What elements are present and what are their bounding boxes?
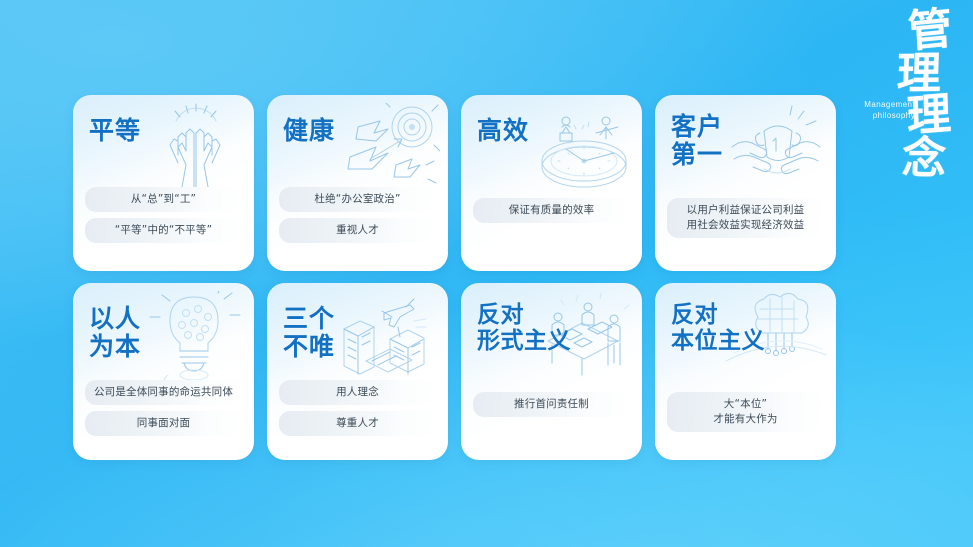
card-anti-formalism[interactable]: 反对 形式主义 推行	[461, 283, 642, 460]
card-people-oriented[interactable]: 以人 为本	[73, 283, 254, 460]
card-pill[interactable]: 保证有质量的效率	[473, 198, 630, 223]
card-pill-list: 用人理念 尊重人才	[279, 380, 436, 436]
card-heading: 以人 为本	[89, 305, 141, 361]
card-pill[interactable]: 从“总”到“工”	[85, 187, 242, 212]
card-efficiency[interactable]: 高效	[461, 95, 642, 271]
philosophy-card-grid: 平等 从“总”到“工” “平等”中的“不平等” 健康	[73, 95, 836, 460]
brand-subtitle-line-2: philosophy	[843, 111, 915, 122]
card-heading: 三个 不唯	[283, 305, 335, 361]
card-pill[interactable]: 公司是全体同事的命运共同体	[85, 380, 242, 405]
card-pill-list: 保证有质量的效率	[473, 198, 630, 223]
card-heading: 平等	[89, 117, 141, 145]
brand-subtitle: Management philosophy	[843, 100, 915, 121]
brand-title-block: 管 理 理 念 Management philosophy	[847, 8, 963, 198]
card-health[interactable]: 健康 杜绝“办公室政治” 重视人才	[267, 95, 448, 271]
card-pill[interactable]: 尊重人才	[279, 411, 436, 436]
card-three-nots[interactable]: 三个 不唯 用人理念 尊重人才	[267, 283, 448, 460]
card-pill-list: 以用户利益保证公司利益 用社会效益实现经济效益	[667, 198, 824, 238]
card-heading: 客户 第一	[671, 113, 723, 169]
card-heading: 健康	[283, 117, 335, 145]
card-equality[interactable]: 平等 从“总”到“工” “平等”中的“不平等”	[73, 95, 254, 271]
card-pill-list: 杜绝“办公室政治” 重视人才	[279, 187, 436, 243]
card-pill-list: 从“总”到“工” “平等”中的“不平等”	[85, 187, 242, 243]
card-heading: 反对 本位主义	[671, 303, 765, 355]
brand-subtitle-line-1: Management	[843, 100, 915, 111]
card-pill[interactable]: 以用户利益保证公司利益 用社会效益实现经济效益	[667, 198, 824, 238]
card-pill[interactable]: 推行首问责任制	[473, 392, 630, 417]
card-pill[interactable]: 用人理念	[279, 380, 436, 405]
clock-team-icon	[530, 103, 634, 199]
brand-title-calligraphy: 管 理 理 念	[895, 9, 961, 183]
praying-hands-icon	[142, 103, 246, 199]
card-pill[interactable]: “平等”中的“不平等”	[85, 218, 242, 243]
lightbulb-people-icon	[142, 291, 246, 387]
card-pill[interactable]: 同事面对面	[85, 411, 242, 436]
slide-canvas: 管 理 理 念 Management philosophy 平等	[0, 0, 973, 547]
card-heading: 高效	[477, 117, 529, 145]
card-customer-first[interactable]: 客户 第一 以用户利益保证公司利益 用社会效益实现经济效益	[655, 95, 836, 271]
server-plane-icon	[336, 291, 440, 387]
card-anti-departmentalism[interactable]: 反对 本位主义 大“本位” 才能有大作为	[655, 283, 836, 460]
card-pill-list: 推行首问责任制	[473, 392, 630, 417]
card-pill-list: 大“本位” 才能有大作为	[667, 392, 824, 432]
handshake-trophy-icon	[724, 103, 828, 199]
brand-char-4: 念	[890, 138, 958, 181]
card-pill[interactable]: 重视人才	[279, 218, 436, 243]
card-pill[interactable]: 杜绝“办公室政治”	[279, 187, 436, 212]
card-pill[interactable]: 大“本位” 才能有大作为	[667, 392, 824, 432]
card-pill-list: 公司是全体同事的命运共同体 同事面对面	[85, 380, 242, 436]
target-arrows-icon	[336, 103, 440, 199]
card-heading: 反对 形式主义	[477, 303, 571, 355]
